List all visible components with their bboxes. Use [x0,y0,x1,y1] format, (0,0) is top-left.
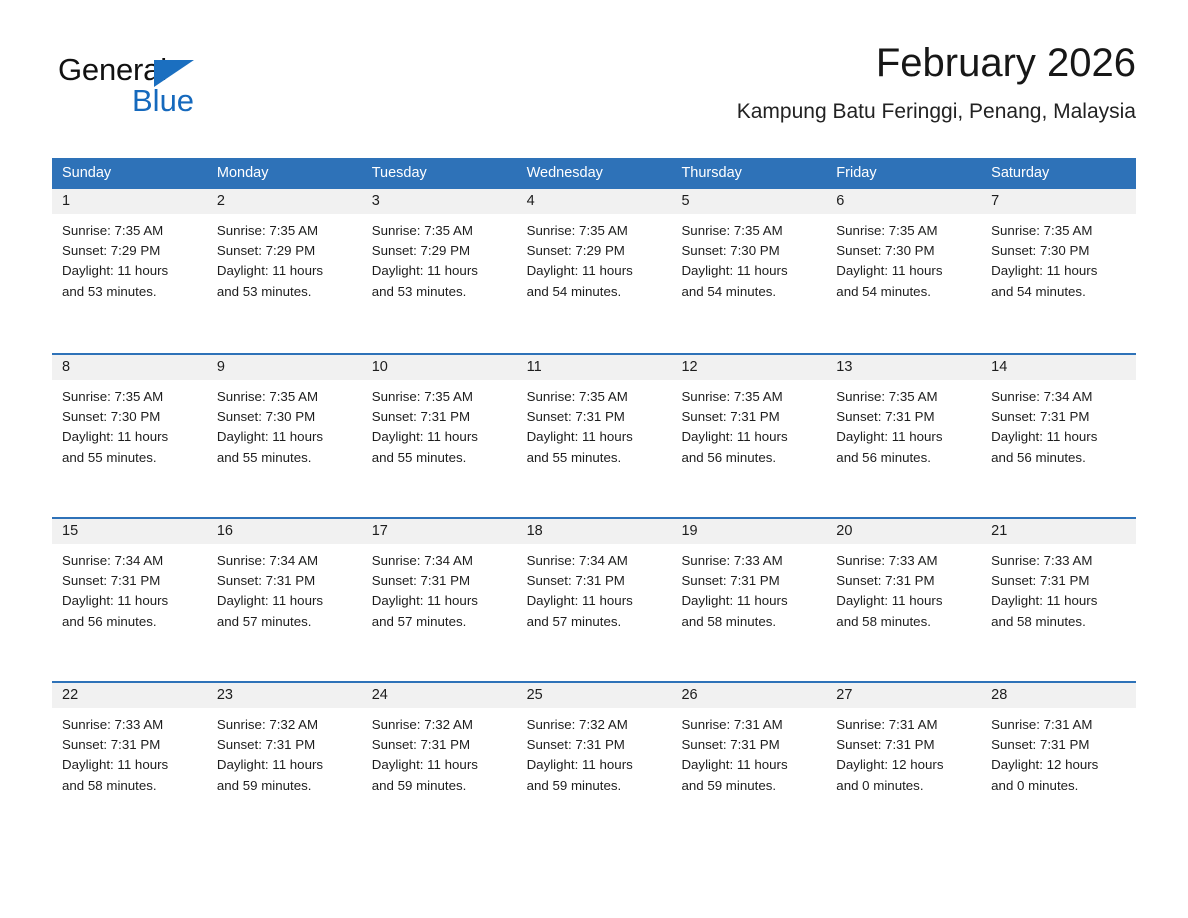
daylight-text-line2: and 55 minutes. [217,448,352,468]
sunrise-text: Sunrise: 7:35 AM [372,221,507,241]
day-number: 9 [207,355,362,380]
sunset-text: Sunset: 7:31 PM [217,735,352,755]
day-cell[interactable]: 6 Sunrise: 7:35 AM Sunset: 7:30 PM Dayli… [826,189,981,353]
daylight-text-line2: and 54 minutes. [836,282,971,302]
daylight-text-line2: and 59 minutes. [681,776,816,796]
daylight-text-line1: Daylight: 11 hours [681,755,816,775]
day-details: Sunrise: 7:35 AM Sunset: 7:31 PM Dayligh… [517,380,672,468]
location-subtitle: Kampung Batu Feringgi, Penang, Malaysia [737,99,1136,124]
day-details: Sunrise: 7:35 AM Sunset: 7:30 PM Dayligh… [52,380,207,468]
day-cell[interactable]: 8 Sunrise: 7:35 AM Sunset: 7:30 PM Dayli… [52,355,207,517]
day-details: Sunrise: 7:35 AM Sunset: 7:31 PM Dayligh… [362,380,517,468]
day-details: Sunrise: 7:35 AM Sunset: 7:29 PM Dayligh… [362,214,517,302]
day-cell[interactable]: 11 Sunrise: 7:35 AM Sunset: 7:31 PM Dayl… [517,355,672,517]
weekday-header-row: Sunday Monday Tuesday Wednesday Thursday… [52,158,1136,189]
sunrise-text: Sunrise: 7:35 AM [681,387,816,407]
day-number: 15 [52,519,207,544]
day-number: 6 [826,189,981,214]
logo-text-blue: Blue [132,85,194,116]
sunrise-text: Sunrise: 7:35 AM [217,387,352,407]
day-number: 7 [981,189,1136,214]
logo-text-general: General [58,54,167,85]
sunset-text: Sunset: 7:31 PM [836,571,971,591]
day-cell[interactable]: 17 Sunrise: 7:34 AM Sunset: 7:31 PM Dayl… [362,519,517,681]
sunrise-text: Sunrise: 7:35 AM [372,387,507,407]
daylight-text-line2: and 54 minutes. [991,282,1126,302]
sunrise-text: Sunrise: 7:34 AM [527,551,662,571]
day-cell[interactable]: 28 Sunrise: 7:31 AM Sunset: 7:31 PM Dayl… [981,683,1136,845]
sunset-text: Sunset: 7:31 PM [372,571,507,591]
sunrise-text: Sunrise: 7:31 AM [991,715,1126,735]
day-cell[interactable]: 18 Sunrise: 7:34 AM Sunset: 7:31 PM Dayl… [517,519,672,681]
day-cell[interactable]: 3 Sunrise: 7:35 AM Sunset: 7:29 PM Dayli… [362,189,517,353]
day-number: 23 [207,683,362,708]
sunset-text: Sunset: 7:31 PM [62,571,197,591]
daylight-text-line2: and 54 minutes. [527,282,662,302]
daylight-text-line1: Daylight: 11 hours [836,591,971,611]
day-details: Sunrise: 7:35 AM Sunset: 7:29 PM Dayligh… [517,214,672,302]
day-details: Sunrise: 7:33 AM Sunset: 7:31 PM Dayligh… [52,708,207,796]
day-cell[interactable]: 9 Sunrise: 7:35 AM Sunset: 7:30 PM Dayli… [207,355,362,517]
sunrise-text: Sunrise: 7:35 AM [836,221,971,241]
weekday-header-friday: Friday [826,158,981,189]
day-cell[interactable]: 22 Sunrise: 7:33 AM Sunset: 7:31 PM Dayl… [52,683,207,845]
daylight-text-line2: and 57 minutes. [217,612,352,632]
day-cell[interactable]: 15 Sunrise: 7:34 AM Sunset: 7:31 PM Dayl… [52,519,207,681]
weekday-header-monday: Monday [207,158,362,189]
day-number: 11 [517,355,672,380]
calendar-page: General Blue February 2026 Kampung Batu … [0,0,1188,918]
daylight-text-line1: Daylight: 11 hours [527,591,662,611]
day-number: 8 [52,355,207,380]
daylight-text-line1: Daylight: 11 hours [62,755,197,775]
day-number: 17 [362,519,517,544]
sunset-text: Sunset: 7:30 PM [681,241,816,261]
day-number: 14 [981,355,1136,380]
calendar-table: Sunday Monday Tuesday Wednesday Thursday… [52,158,1136,845]
sunrise-text: Sunrise: 7:34 AM [217,551,352,571]
daylight-text-line1: Daylight: 11 hours [836,261,971,281]
day-cell[interactable]: 16 Sunrise: 7:34 AM Sunset: 7:31 PM Dayl… [207,519,362,681]
day-cell[interactable]: 4 Sunrise: 7:35 AM Sunset: 7:29 PM Dayli… [517,189,672,353]
day-details: Sunrise: 7:34 AM Sunset: 7:31 PM Dayligh… [207,544,362,632]
weekday-header-saturday: Saturday [981,158,1136,189]
generalblue-logo[interactable]: General Blue [58,54,258,134]
sunset-text: Sunset: 7:31 PM [527,407,662,427]
sunrise-text: Sunrise: 7:35 AM [62,221,197,241]
day-cell[interactable]: 12 Sunrise: 7:35 AM Sunset: 7:31 PM Dayl… [671,355,826,517]
day-number: 22 [52,683,207,708]
day-number: 3 [362,189,517,214]
daylight-text-line1: Daylight: 12 hours [836,755,971,775]
daylight-text-line2: and 59 minutes. [372,776,507,796]
sunrise-text: Sunrise: 7:35 AM [836,387,971,407]
daylight-text-line1: Daylight: 11 hours [62,427,197,447]
sunrise-text: Sunrise: 7:33 AM [681,551,816,571]
day-cell[interactable]: 14 Sunrise: 7:34 AM Sunset: 7:31 PM Dayl… [981,355,1136,517]
sunrise-text: Sunrise: 7:35 AM [991,221,1126,241]
day-cell[interactable]: 19 Sunrise: 7:33 AM Sunset: 7:31 PM Dayl… [671,519,826,681]
day-details: Sunrise: 7:34 AM Sunset: 7:31 PM Dayligh… [517,544,672,632]
daylight-text-line1: Daylight: 11 hours [527,261,662,281]
daylight-text-line1: Daylight: 11 hours [217,755,352,775]
day-cell[interactable]: 5 Sunrise: 7:35 AM Sunset: 7:30 PM Dayli… [671,189,826,353]
weekday-header-sunday: Sunday [52,158,207,189]
daylight-text-line2: and 57 minutes. [372,612,507,632]
page-header: General Blue February 2026 Kampung Batu … [52,40,1136,148]
daylight-text-line2: and 53 minutes. [217,282,352,302]
day-cell[interactable]: 25 Sunrise: 7:32 AM Sunset: 7:31 PM Dayl… [517,683,672,845]
day-cell[interactable]: 7 Sunrise: 7:35 AM Sunset: 7:30 PM Dayli… [981,189,1136,353]
daylight-text-line1: Daylight: 11 hours [681,261,816,281]
daylight-text-line1: Daylight: 11 hours [372,591,507,611]
sunset-text: Sunset: 7:31 PM [991,407,1126,427]
daylight-text-line1: Daylight: 11 hours [527,755,662,775]
daylight-text-line2: and 54 minutes. [681,282,816,302]
daylight-text-line2: and 58 minutes. [62,776,197,796]
daylight-text-line1: Daylight: 11 hours [681,591,816,611]
sunrise-text: Sunrise: 7:33 AM [62,715,197,735]
daylight-text-line2: and 58 minutes. [836,612,971,632]
sunrise-text: Sunrise: 7:31 AM [836,715,971,735]
sunset-text: Sunset: 7:30 PM [991,241,1126,261]
daylight-text-line2: and 58 minutes. [991,612,1126,632]
sunrise-text: Sunrise: 7:33 AM [991,551,1126,571]
daylight-text-line1: Daylight: 11 hours [217,261,352,281]
day-details: Sunrise: 7:35 AM Sunset: 7:29 PM Dayligh… [207,214,362,302]
day-cell[interactable]: 13 Sunrise: 7:35 AM Sunset: 7:31 PM Dayl… [826,355,981,517]
day-number: 27 [826,683,981,708]
day-number: 20 [826,519,981,544]
sunset-text: Sunset: 7:29 PM [62,241,197,261]
sunrise-text: Sunrise: 7:35 AM [527,221,662,241]
daylight-text-line2: and 0 minutes. [991,776,1126,796]
day-details: Sunrise: 7:32 AM Sunset: 7:31 PM Dayligh… [207,708,362,796]
day-details: Sunrise: 7:34 AM Sunset: 7:31 PM Dayligh… [52,544,207,632]
sunrise-text: Sunrise: 7:33 AM [836,551,971,571]
sunrise-text: Sunrise: 7:32 AM [217,715,352,735]
day-cell[interactable]: 26 Sunrise: 7:31 AM Sunset: 7:31 PM Dayl… [671,683,826,845]
day-details: Sunrise: 7:35 AM Sunset: 7:30 PM Dayligh… [826,214,981,302]
day-number: 24 [362,683,517,708]
daylight-text-line1: Daylight: 11 hours [372,427,507,447]
daylight-text-line2: and 56 minutes. [62,612,197,632]
day-number: 18 [517,519,672,544]
week-row: 8 Sunrise: 7:35 AM Sunset: 7:30 PM Dayli… [52,353,1136,517]
daylight-text-line2: and 59 minutes. [527,776,662,796]
week-row: 22 Sunrise: 7:33 AM Sunset: 7:31 PM Dayl… [52,681,1136,845]
day-details: Sunrise: 7:31 AM Sunset: 7:31 PM Dayligh… [671,708,826,796]
day-cell[interactable]: 1 Sunrise: 7:35 AM Sunset: 7:29 PM Dayli… [52,189,207,353]
daylight-text-line2: and 57 minutes. [527,612,662,632]
daylight-text-line2: and 56 minutes. [681,448,816,468]
daylight-text-line1: Daylight: 12 hours [991,755,1126,775]
day-cell[interactable]: 2 Sunrise: 7:35 AM Sunset: 7:29 PM Dayli… [207,189,362,353]
day-details: Sunrise: 7:32 AM Sunset: 7:31 PM Dayligh… [517,708,672,796]
sunrise-text: Sunrise: 7:34 AM [372,551,507,571]
sunset-text: Sunset: 7:31 PM [527,571,662,591]
sunset-text: Sunset: 7:31 PM [681,735,816,755]
sunset-text: Sunset: 7:29 PM [527,241,662,261]
title-block: February 2026 Kampung Batu Feringgi, Pen… [737,40,1136,125]
sunset-text: Sunset: 7:31 PM [62,735,197,755]
sunrise-text: Sunrise: 7:35 AM [217,221,352,241]
daylight-text-line2: and 59 minutes. [217,776,352,796]
day-details: Sunrise: 7:35 AM Sunset: 7:30 PM Dayligh… [207,380,362,468]
day-details: Sunrise: 7:35 AM Sunset: 7:31 PM Dayligh… [671,380,826,468]
sunset-text: Sunset: 7:31 PM [681,571,816,591]
day-details: Sunrise: 7:35 AM Sunset: 7:30 PM Dayligh… [671,214,826,302]
day-details: Sunrise: 7:35 AM Sunset: 7:31 PM Dayligh… [826,380,981,468]
sunset-text: Sunset: 7:30 PM [62,407,197,427]
daylight-text-line2: and 55 minutes. [372,448,507,468]
daylight-text-line1: Daylight: 11 hours [836,427,971,447]
daylight-text-line2: and 58 minutes. [681,612,816,632]
weekday-header-wednesday: Wednesday [517,158,672,189]
day-number: 25 [517,683,672,708]
day-details: Sunrise: 7:31 AM Sunset: 7:31 PM Dayligh… [826,708,981,796]
day-number: 19 [671,519,826,544]
daylight-text-line2: and 53 minutes. [62,282,197,302]
day-number: 5 [671,189,826,214]
sunset-text: Sunset: 7:30 PM [836,241,971,261]
sunset-text: Sunset: 7:30 PM [217,407,352,427]
sunrise-text: Sunrise: 7:34 AM [991,387,1126,407]
sunset-text: Sunset: 7:31 PM [217,571,352,591]
sunrise-text: Sunrise: 7:35 AM [527,387,662,407]
day-details: Sunrise: 7:33 AM Sunset: 7:31 PM Dayligh… [981,544,1136,632]
sunset-text: Sunset: 7:31 PM [836,407,971,427]
sunrise-text: Sunrise: 7:32 AM [372,715,507,735]
day-number: 10 [362,355,517,380]
day-number: 21 [981,519,1136,544]
sunset-text: Sunset: 7:31 PM [991,735,1126,755]
sunset-text: Sunset: 7:31 PM [991,571,1126,591]
day-number: 2 [207,189,362,214]
day-details: Sunrise: 7:35 AM Sunset: 7:29 PM Dayligh… [52,214,207,302]
sunset-text: Sunset: 7:29 PM [372,241,507,261]
week-row: 1 Sunrise: 7:35 AM Sunset: 7:29 PM Dayli… [52,189,1136,353]
sunrise-text: Sunrise: 7:35 AM [62,387,197,407]
sunrise-text: Sunrise: 7:35 AM [681,221,816,241]
day-details: Sunrise: 7:33 AM Sunset: 7:31 PM Dayligh… [671,544,826,632]
daylight-text-line1: Daylight: 11 hours [527,427,662,447]
sunset-text: Sunset: 7:29 PM [217,241,352,261]
weekday-header-thursday: Thursday [671,158,826,189]
page-title: February 2026 [737,40,1136,86]
sunrise-text: Sunrise: 7:32 AM [527,715,662,735]
day-details: Sunrise: 7:31 AM Sunset: 7:31 PM Dayligh… [981,708,1136,796]
sunset-text: Sunset: 7:31 PM [527,735,662,755]
day-number: 4 [517,189,672,214]
daylight-text-line1: Daylight: 11 hours [991,427,1126,447]
day-number: 1 [52,189,207,214]
daylight-text-line1: Daylight: 11 hours [372,261,507,281]
day-number: 12 [671,355,826,380]
day-number: 26 [671,683,826,708]
day-number: 16 [207,519,362,544]
weekday-header-tuesday: Tuesday [362,158,517,189]
daylight-text-line2: and 0 minutes. [836,776,971,796]
day-details: Sunrise: 7:33 AM Sunset: 7:31 PM Dayligh… [826,544,981,632]
day-cell[interactable]: 21 Sunrise: 7:33 AM Sunset: 7:31 PM Dayl… [981,519,1136,681]
day-cell[interactable]: 10 Sunrise: 7:35 AM Sunset: 7:31 PM Dayl… [362,355,517,517]
day-details: Sunrise: 7:32 AM Sunset: 7:31 PM Dayligh… [362,708,517,796]
daylight-text-line1: Daylight: 11 hours [372,755,507,775]
day-cell[interactable]: 27 Sunrise: 7:31 AM Sunset: 7:31 PM Dayl… [826,683,981,845]
daylight-text-line1: Daylight: 11 hours [217,591,352,611]
sunset-text: Sunset: 7:31 PM [836,735,971,755]
daylight-text-line1: Daylight: 11 hours [217,427,352,447]
daylight-text-line1: Daylight: 11 hours [991,261,1126,281]
sunset-text: Sunset: 7:31 PM [372,407,507,427]
sunset-text: Sunset: 7:31 PM [372,735,507,755]
sunset-text: Sunset: 7:31 PM [681,407,816,427]
daylight-text-line1: Daylight: 11 hours [62,591,197,611]
day-details: Sunrise: 7:34 AM Sunset: 7:31 PM Dayligh… [362,544,517,632]
day-details: Sunrise: 7:34 AM Sunset: 7:31 PM Dayligh… [981,380,1136,468]
week-row: 15 Sunrise: 7:34 AM Sunset: 7:31 PM Dayl… [52,517,1136,681]
sunrise-text: Sunrise: 7:34 AM [62,551,197,571]
daylight-text-line2: and 56 minutes. [991,448,1126,468]
day-number: 28 [981,683,1136,708]
daylight-text-line2: and 53 minutes. [372,282,507,302]
daylight-text-line2: and 55 minutes. [62,448,197,468]
daylight-text-line1: Daylight: 11 hours [681,427,816,447]
daylight-text-line2: and 56 minutes. [836,448,971,468]
day-cell[interactable]: 24 Sunrise: 7:32 AM Sunset: 7:31 PM Dayl… [362,683,517,845]
day-cell[interactable]: 20 Sunrise: 7:33 AM Sunset: 7:31 PM Dayl… [826,519,981,681]
daylight-text-line1: Daylight: 11 hours [62,261,197,281]
day-number: 13 [826,355,981,380]
daylight-text-line1: Daylight: 11 hours [991,591,1126,611]
sunrise-text: Sunrise: 7:31 AM [681,715,816,735]
day-details: Sunrise: 7:35 AM Sunset: 7:30 PM Dayligh… [981,214,1136,302]
day-cell[interactable]: 23 Sunrise: 7:32 AM Sunset: 7:31 PM Dayl… [207,683,362,845]
daylight-text-line2: and 55 minutes. [527,448,662,468]
